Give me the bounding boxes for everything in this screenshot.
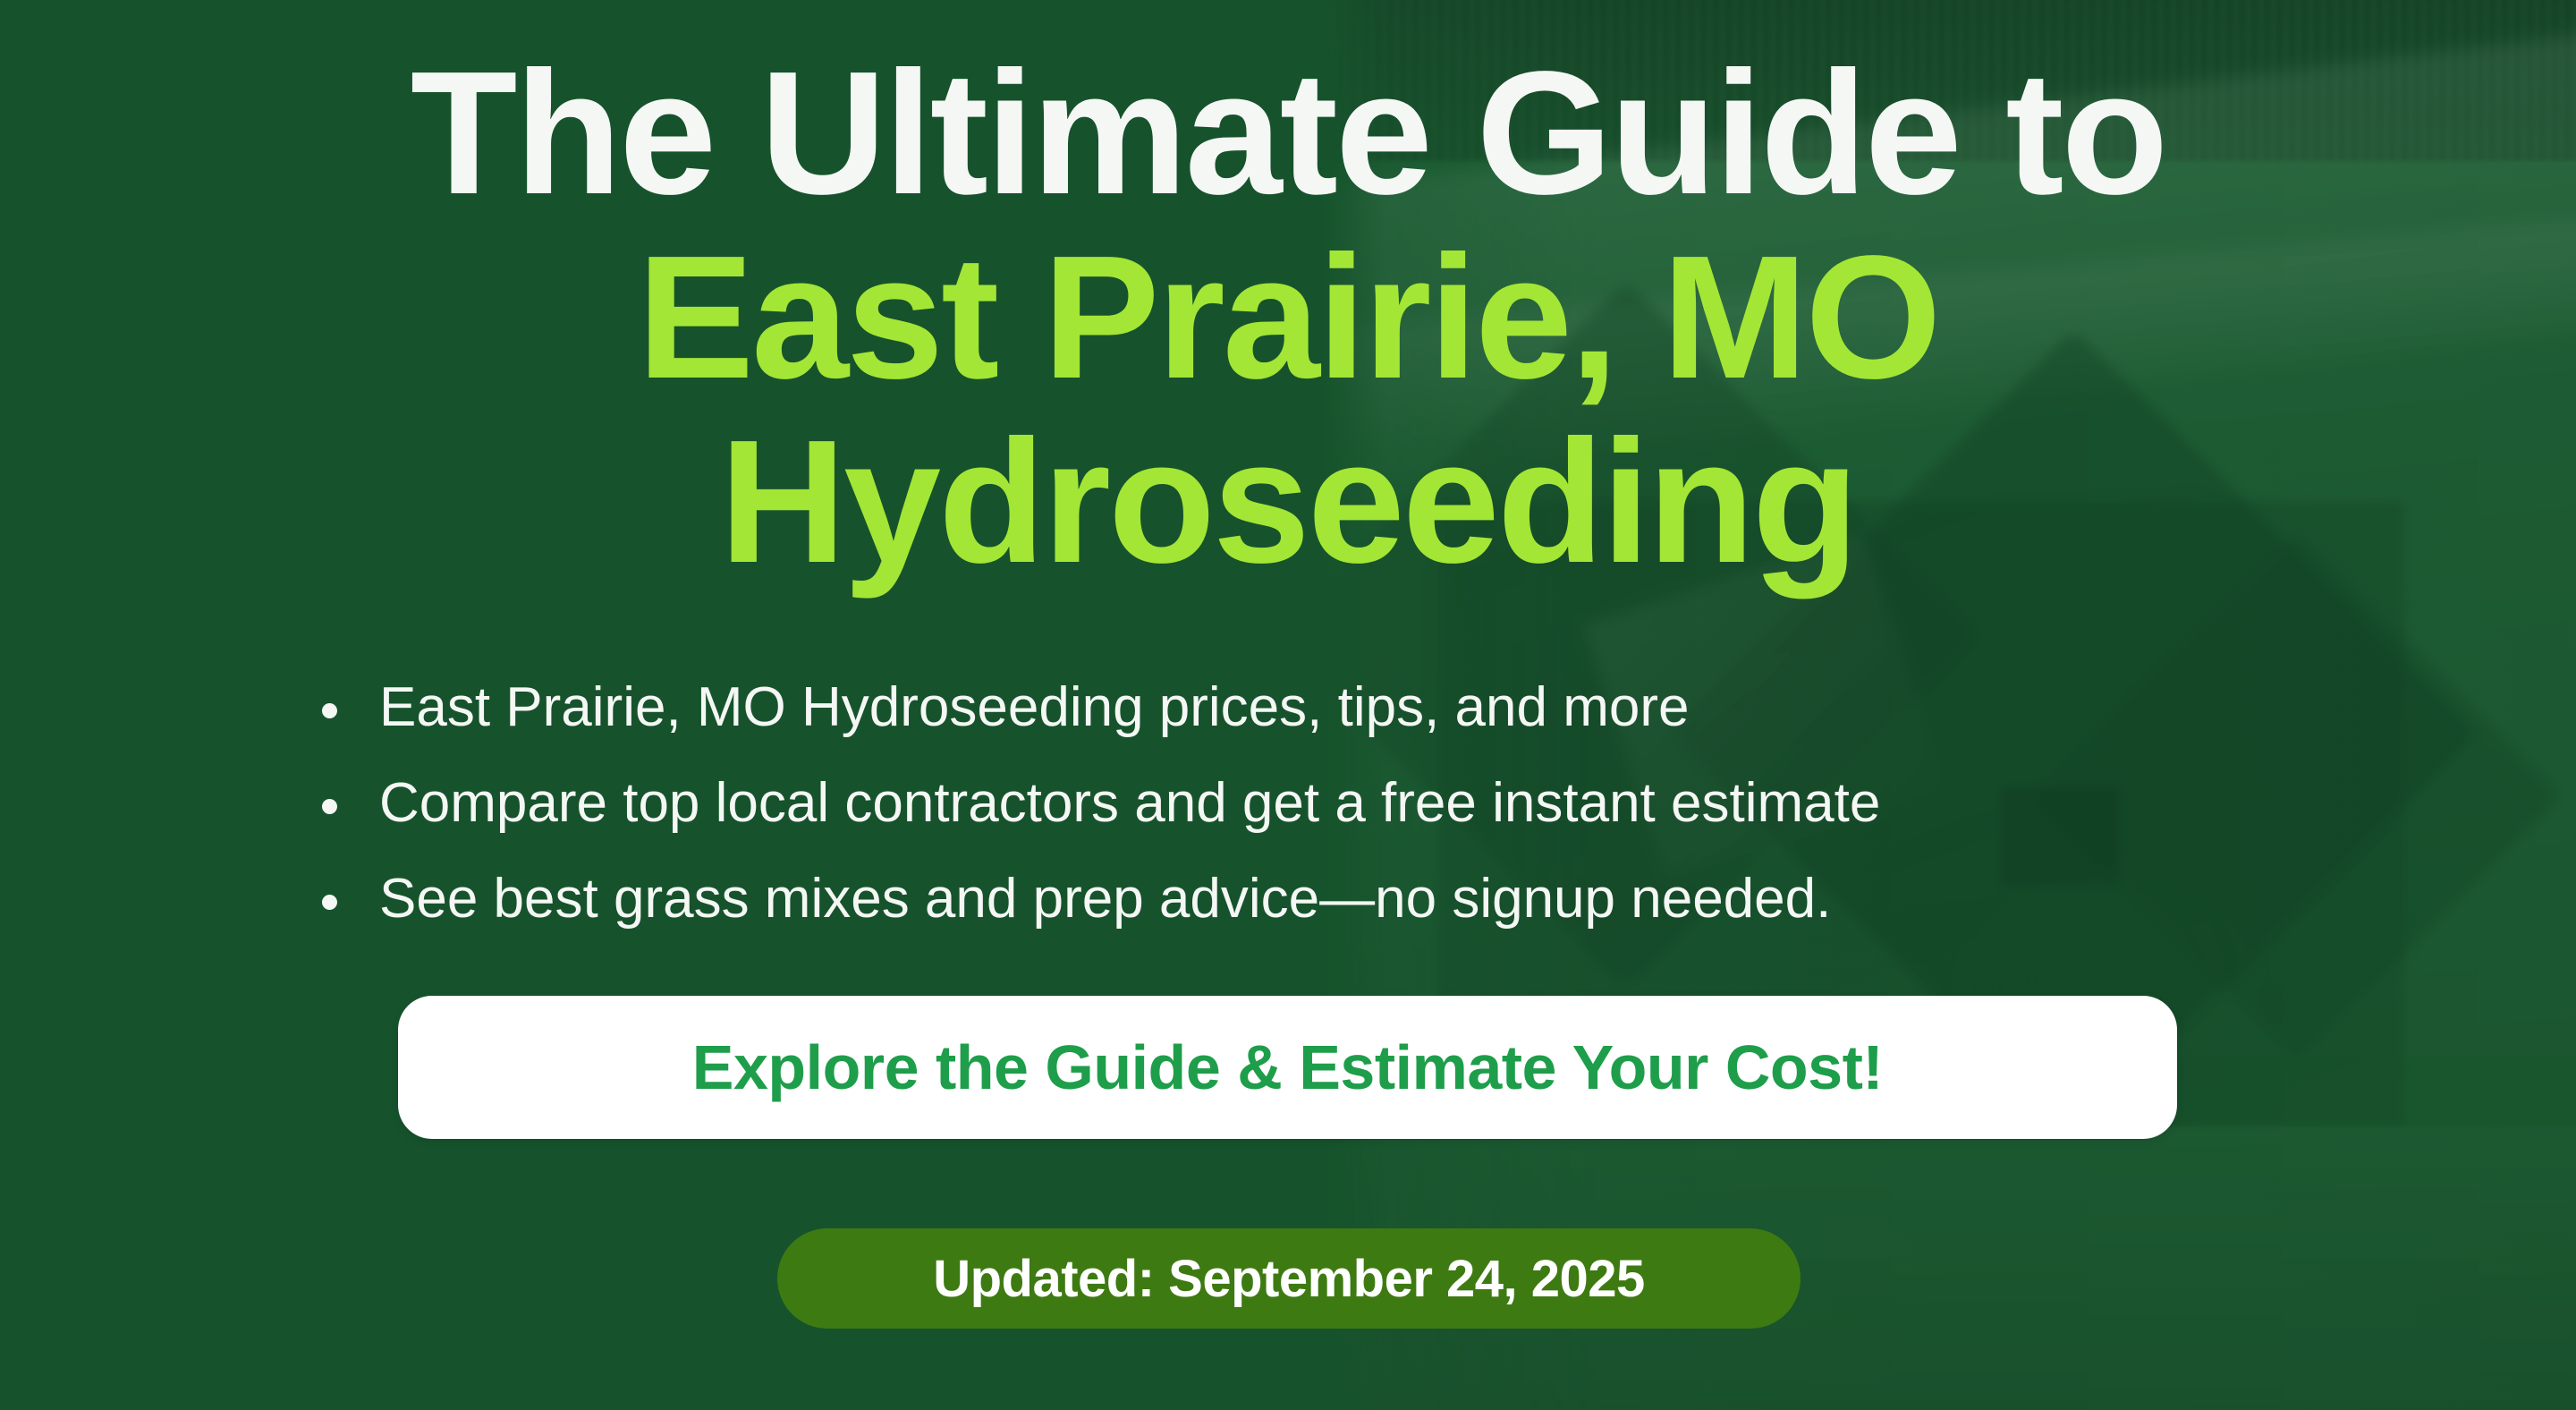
benefit-list: East Prairie, MO Hydroseeding prices, ti…: [315, 680, 1880, 927]
list-item: See best grass mixes and prep advice—no …: [315, 871, 1880, 927]
list-item-label: See best grass mixes and prep advice—no …: [379, 868, 1831, 930]
bullet-dot-icon: [322, 895, 337, 910]
list-item: Compare top local contractors and get a …: [315, 776, 1880, 831]
headline-line-1: The Ultimate Guide to: [0, 41, 2576, 225]
explore-guide-cta-button[interactable]: Explore the Guide & Estimate Your Cost!: [398, 996, 2177, 1139]
bullet-dot-icon: [322, 799, 337, 814]
updated-date-badge: Updated: September 24, 2025: [777, 1228, 1801, 1329]
updated-date-label: Updated: September 24, 2025: [933, 1249, 1645, 1309]
headline-line-2: East Prairie, MO: [0, 225, 2576, 410]
list-item-label: Compare top local contractors and get a …: [379, 772, 1880, 834]
hero-content: The Ultimate Guide to East Prairie, MO H…: [0, 0, 2576, 1410]
bullet-dot-icon: [322, 703, 337, 718]
page-title: The Ultimate Guide to East Prairie, MO H…: [0, 41, 2576, 593]
list-item-label: East Prairie, MO Hydroseeding prices, ti…: [379, 676, 1689, 738]
list-item: East Prairie, MO Hydroseeding prices, ti…: [315, 680, 1880, 735]
cta-label: Explore the Guide & Estimate Your Cost!: [692, 1032, 1884, 1103]
hero-banner: The Ultimate Guide to East Prairie, MO H…: [0, 0, 2576, 1410]
headline-line-3: Hydroseeding: [0, 410, 2576, 594]
